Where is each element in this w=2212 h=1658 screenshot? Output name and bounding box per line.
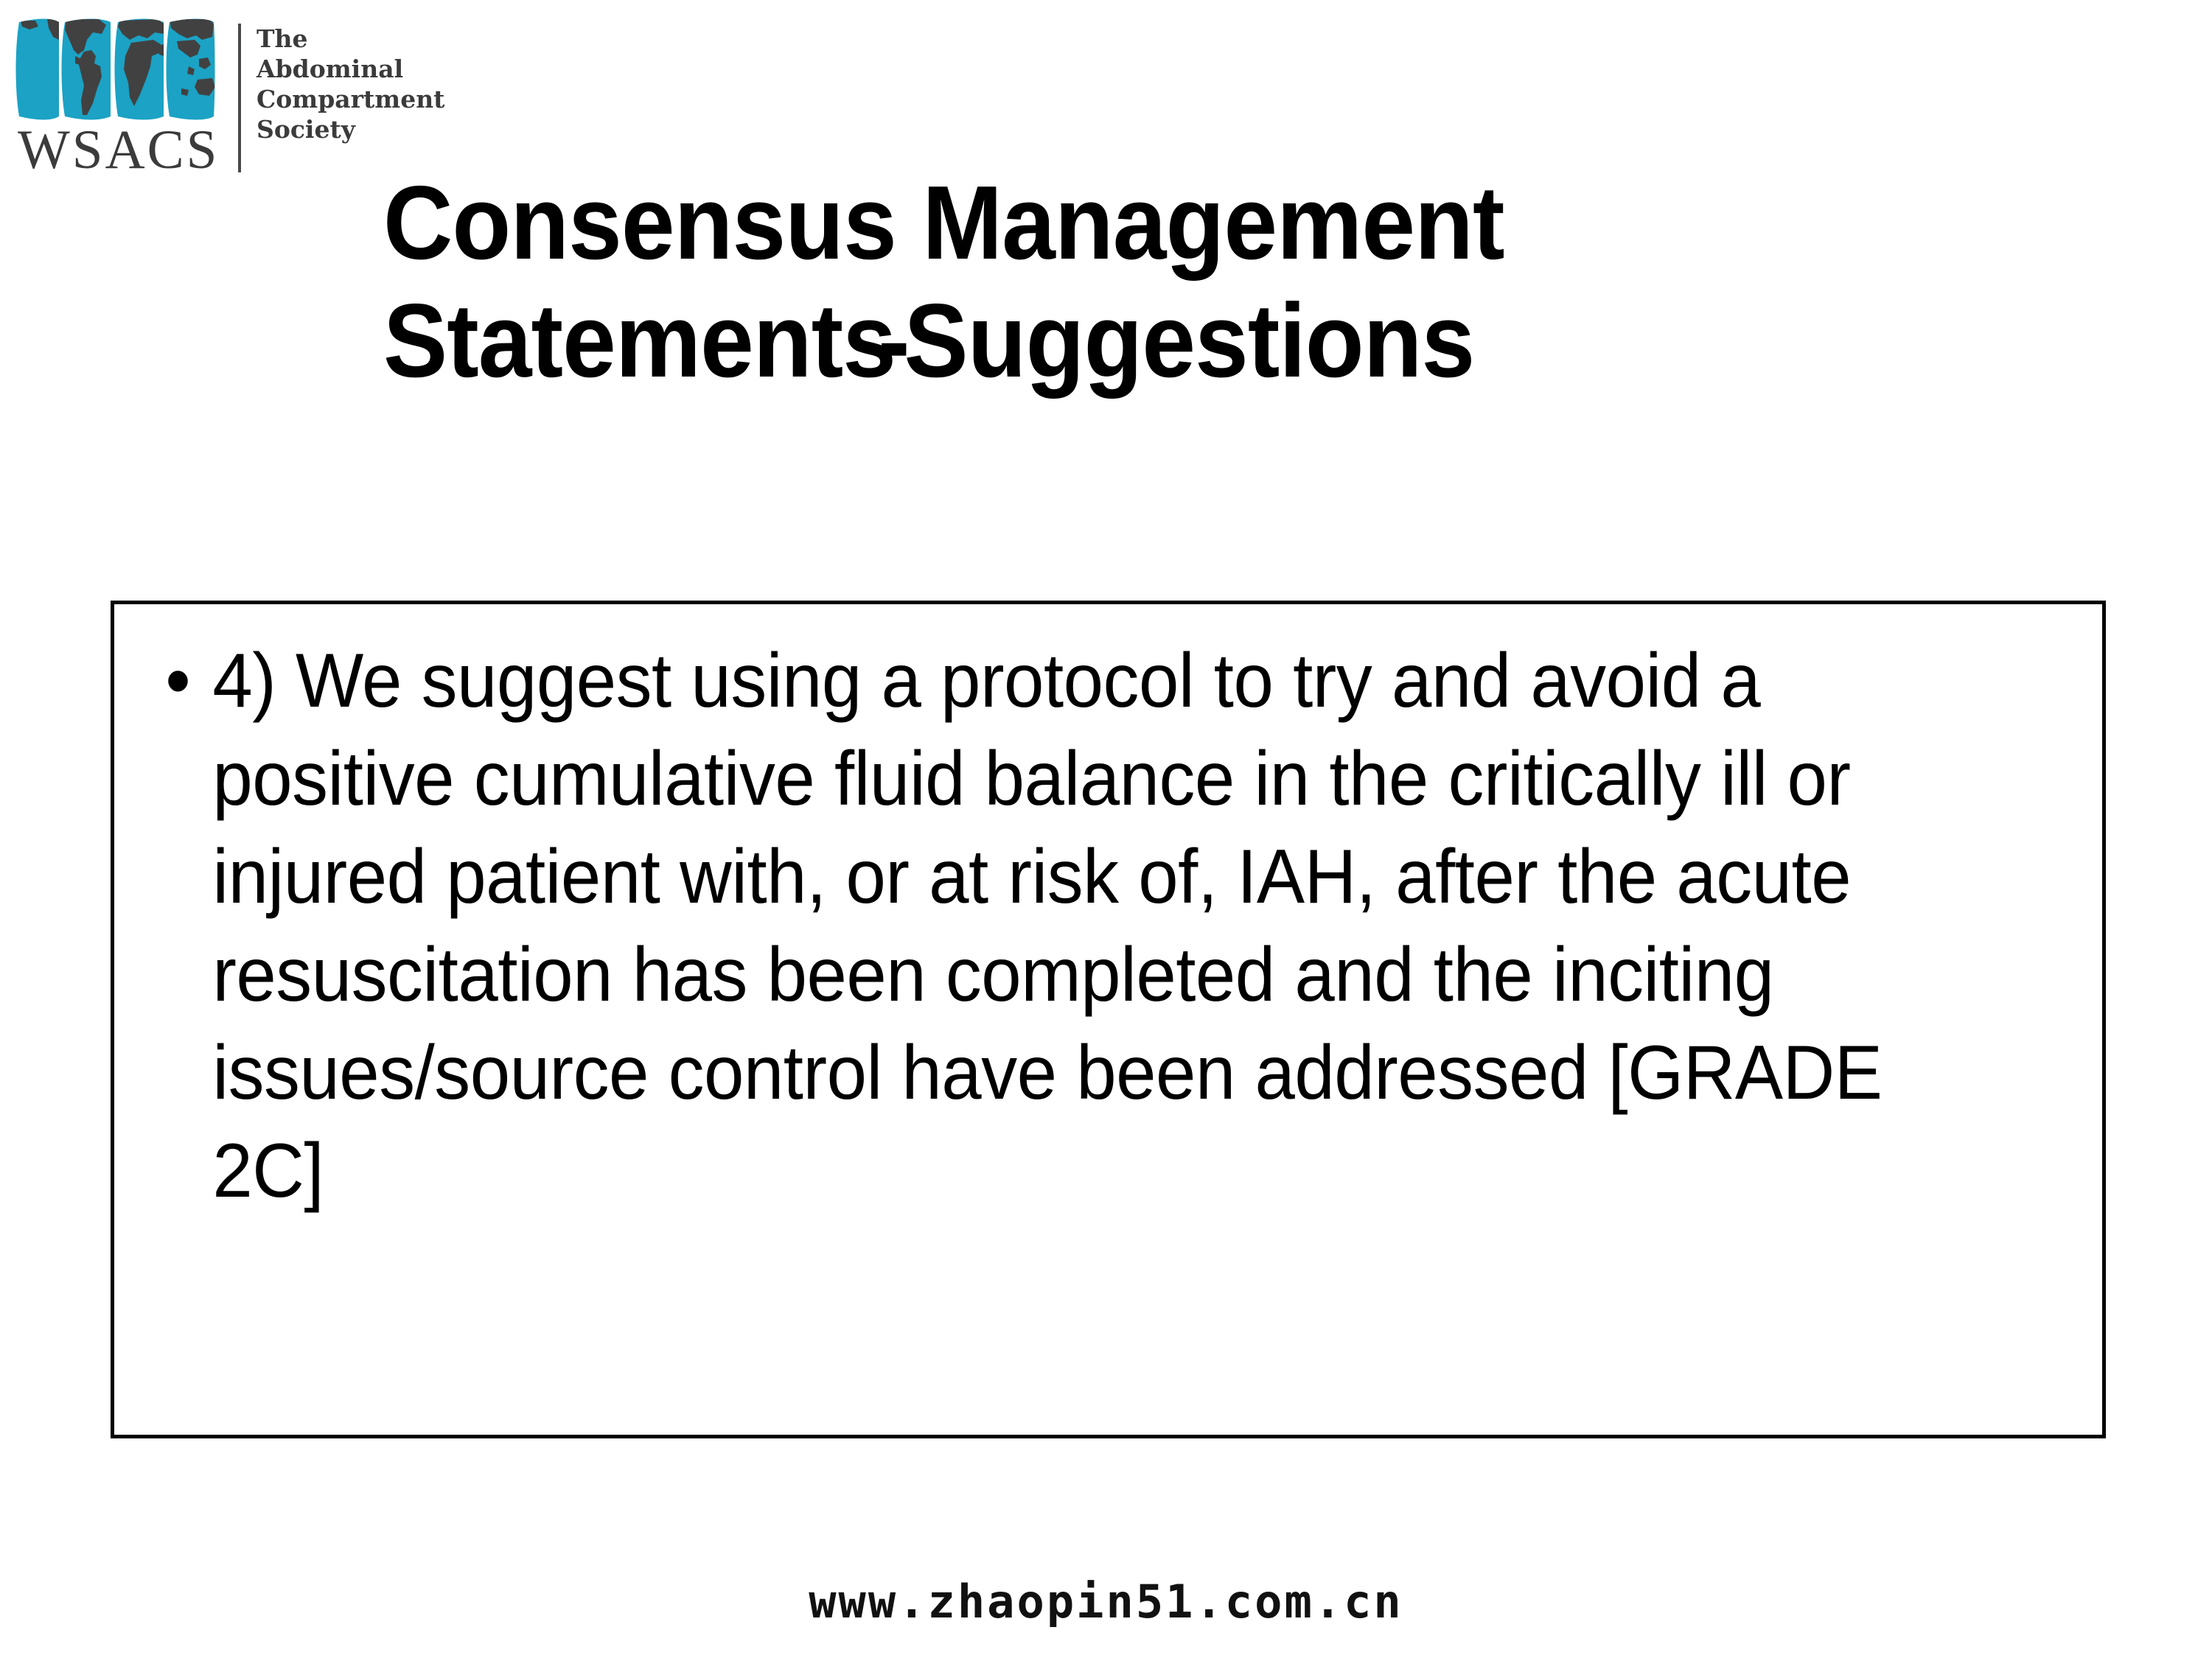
bullet-glyph: •: [165, 632, 190, 730]
footer-watermark: www.zhaopin51.com.cn: [0, 1575, 2212, 1629]
statement-text: 4) We suggest using a protocol to try an…: [212, 632, 1962, 1220]
slide-title-line-1: Consensus Management: [383, 164, 1902, 282]
society-line-2: Abdominal: [257, 54, 444, 84]
content-box: • 4) We suggest using a protocol to try …: [111, 601, 2106, 1438]
slide-title-line-2-a: Statements: [383, 282, 896, 399]
list-item: • 4) We suggest using a protocol to try …: [158, 632, 1962, 1220]
wsacs-globe-logo-icon: [13, 18, 218, 121]
logo-divider: [238, 24, 241, 172]
statement-list: • 4) We suggest using a protocol to try …: [158, 632, 2077, 1220]
slide-title: Consensus Management Statements- Suggest…: [383, 164, 1902, 400]
society-line-4: Society: [257, 114, 444, 144]
wsacs-wordmark: WSACS: [18, 122, 219, 178]
wsacs-logo-block: WSACS The Abdominal Compartment Society: [13, 10, 397, 165]
logo-society-name: The Abdominal Compartment Society: [257, 24, 444, 144]
society-line-1: The: [257, 24, 444, 54]
slide-title-line-2: Statements- Suggestions: [383, 282, 1902, 400]
society-line-3: Compartment: [257, 84, 444, 114]
slide-title-line-2-b: Suggestions: [878, 282, 1474, 399]
